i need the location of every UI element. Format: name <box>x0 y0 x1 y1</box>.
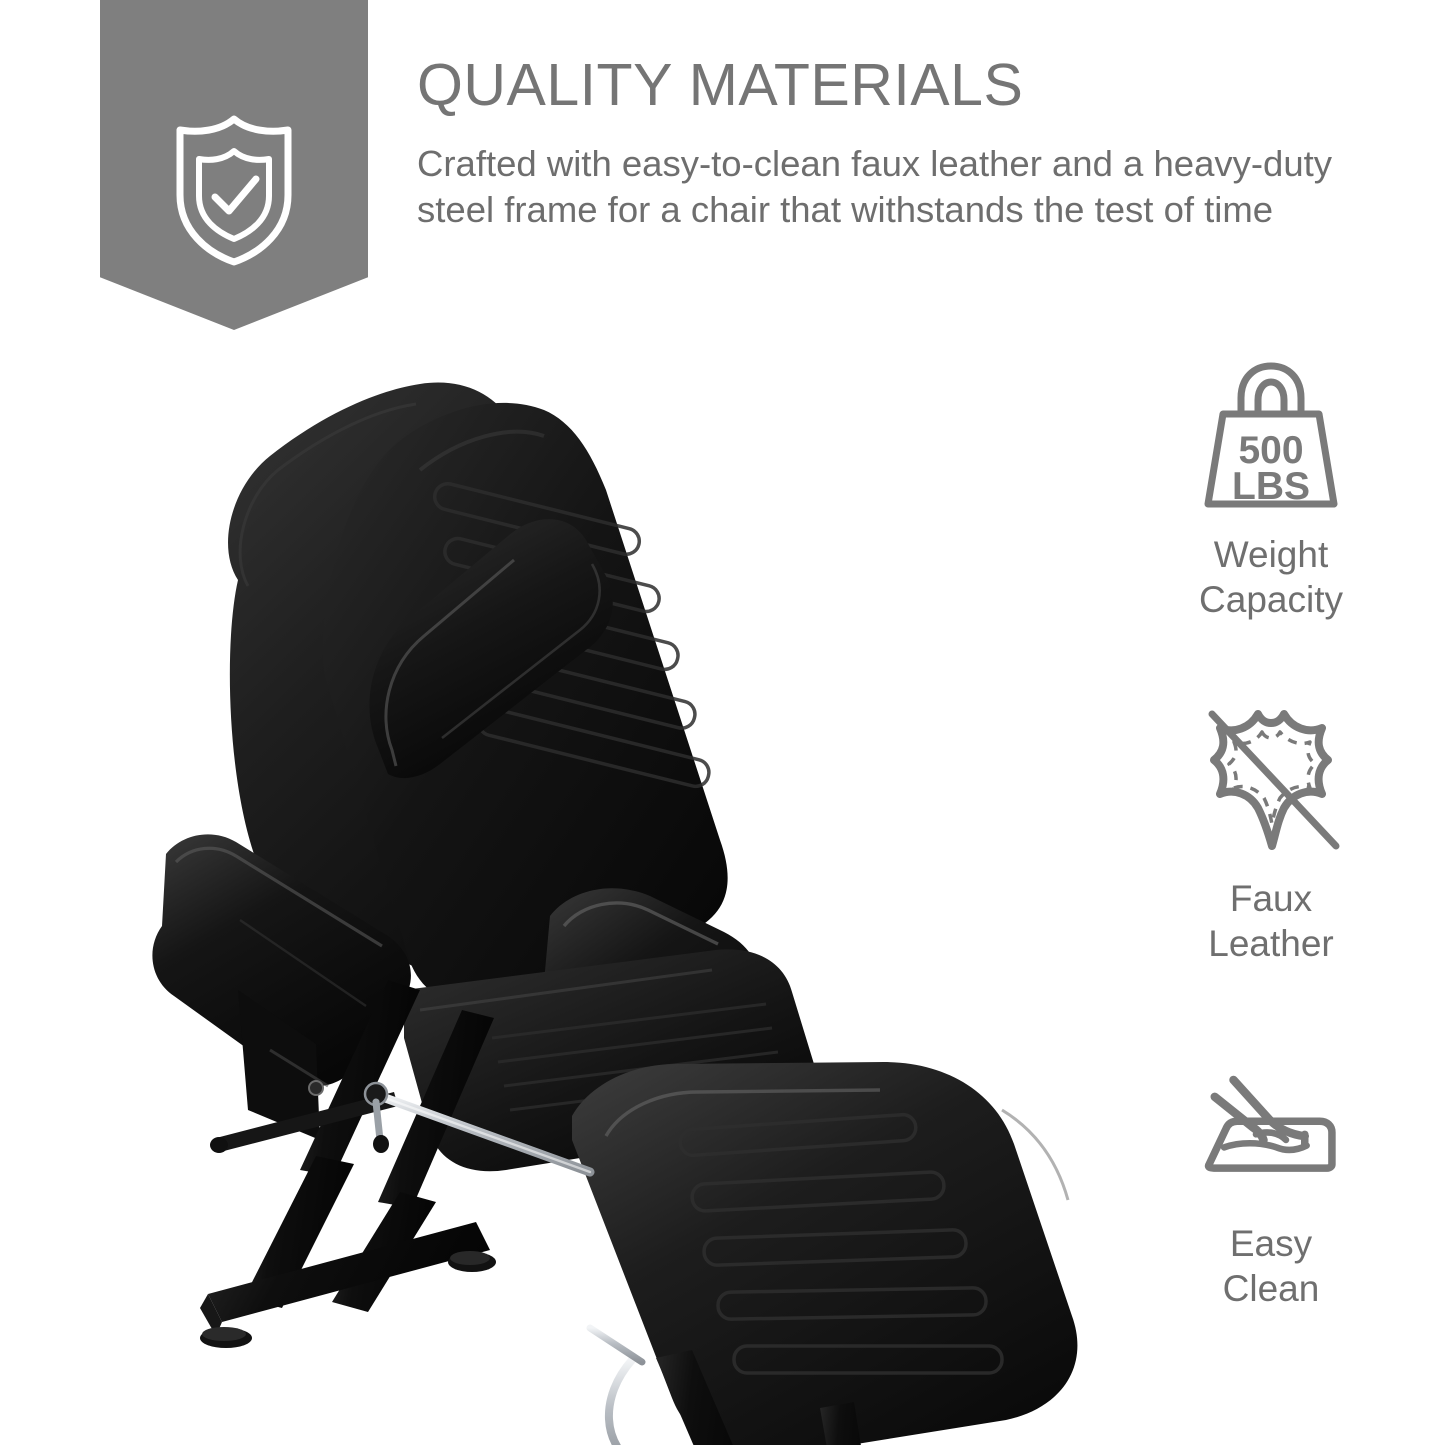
header-text-block: QUALITY MATERIALS Crafted with easy-to-c… <box>417 56 1377 233</box>
chair-legrest-cushion <box>572 1062 1077 1445</box>
weight-bag-icon: 500 LBS <box>1196 360 1346 510</box>
no-leather-hide-icon <box>1196 704 1346 854</box>
page-title: QUALITY MATERIALS <box>417 56 1377 115</box>
product-image-spa-chair <box>120 350 1140 1445</box>
shield-check-icon <box>168 113 300 268</box>
feature-item-faux-leather: Faux Leather <box>1121 704 1421 966</box>
chair-chrome-hoop <box>590 1328 642 1445</box>
feature-label-faux-leather: Faux Leather <box>1208 876 1334 966</box>
feature-label-easy-clean: Easy Clean <box>1223 1221 1320 1311</box>
feature-label-weight-capacity: Weight Capacity <box>1199 532 1343 622</box>
wiping-hand-cloth-icon <box>1196 1049 1346 1199</box>
feature-rail: 500 LBS Weight Capacity Faux Leather <box>1121 360 1421 1311</box>
weight-icon-value-bottom: LBS <box>1232 465 1310 508</box>
page-subtitle: Crafted with easy-to-clean faux leather … <box>417 141 1357 233</box>
feature-item-easy-clean: Easy Clean <box>1121 1049 1421 1311</box>
feature-item-weight-capacity: 500 LBS Weight Capacity <box>1121 360 1421 622</box>
header-banner <box>100 0 368 330</box>
